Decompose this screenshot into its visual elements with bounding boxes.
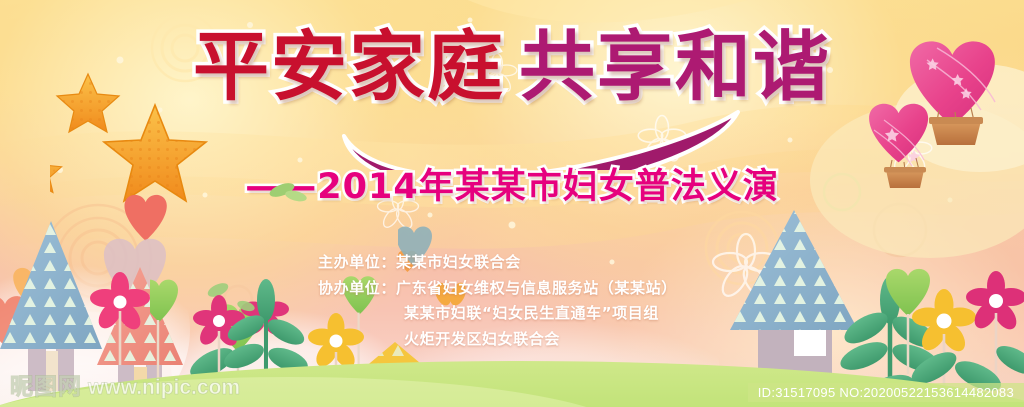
poster-canvas: 平安家庭共享和谐 ——2014年某某市妇女普法义演 主办单位：某某市妇女联合会 … [0,0,1024,407]
credit-line-2: 某某市妇联“妇女民生直通车”项目组 [318,301,738,327]
image-id-bar: ID:31517095 NO:20200522153614482083 [748,383,1024,402]
subtitle: ——2014年某某市妇女普法义演 [0,165,1024,209]
title-part2: 共享和谐 [519,24,831,110]
title-block: 平安家庭共享和谐 [0,24,1024,110]
title-part1: 平安家庭 [193,24,505,110]
credit-line-0: 主办单位：某某市妇女联合会 [318,250,738,276]
credit-line-3: 火炬开发区妇女联合会 [318,327,738,353]
credit-line-1: 协办单位：广东省妇女维权与信息服务站（某某站） [318,276,738,302]
credits-block: 主办单位：某某市妇女联合会 协办单位：广东省妇女维权与信息服务站（某某站） 某某… [318,250,738,352]
watermark-site-url: www.nipic.com [88,376,240,400]
image-id-text: ID:31517095 NO:20200522153614482083 [758,385,1014,400]
watermark: 昵图网 www.nipic.com [10,367,240,401]
watermark-site-cn: 昵图网 [10,367,82,401]
